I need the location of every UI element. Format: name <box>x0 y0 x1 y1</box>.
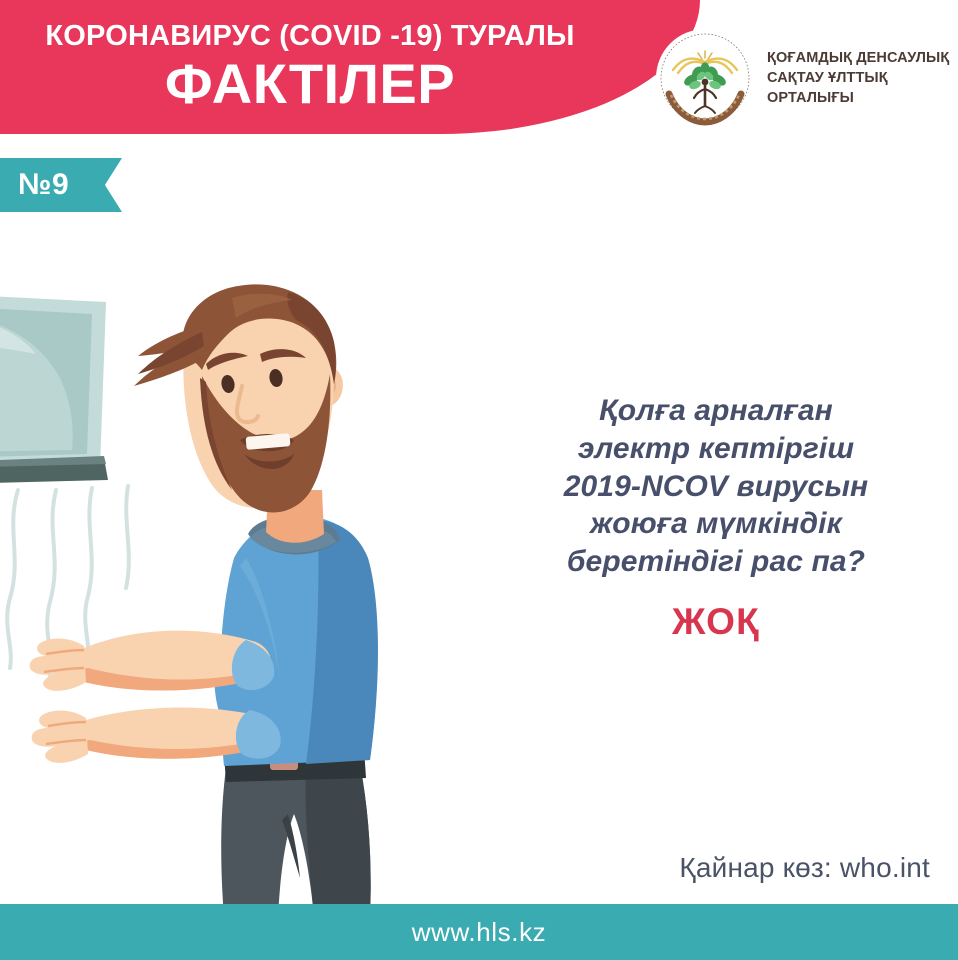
header-title: ФАКТІЛЕР <box>165 55 455 112</box>
fact-message-line: беретіндігі рас па? <box>490 543 942 581</box>
organization-name-line-2: САҚТАУ ҰЛТТЫҚ <box>767 68 949 88</box>
man-arms <box>30 631 281 763</box>
footer-bar: www.hls.kz <box>0 904 958 960</box>
hand-dryer-graphic <box>0 294 108 484</box>
fact-message-line: электр кептіргіш <box>490 430 942 468</box>
hand-dryer-illustration <box>0 258 508 918</box>
organization-name: ҚОҒАМДЫҚ ДЕНСАУЛЫҚ САҚТАУ ҰЛТТЫҚ ОРТАЛЫҒ… <box>767 48 949 108</box>
organization-name-line-3: ОРТАЛЫҒЫ <box>767 88 949 108</box>
source-attribution: Қайнар көз: who.int <box>679 852 930 884</box>
infographic-poster: КОРОНАВИРУС (COVID -19) ТУРАЛЫ ФАКТІЛЕР <box>0 0 958 960</box>
fact-number-ribbon: №9 <box>0 158 122 212</box>
man-head <box>134 284 343 542</box>
public-health-tree-emblem-icon <box>655 28 755 128</box>
fact-message-line: жоюға мүмкіндік <box>490 505 942 543</box>
footer-website-url: www.hls.kz <box>412 919 547 945</box>
fact-number-label: №9 <box>0 170 69 200</box>
organization-name-line-1: ҚОҒАМДЫҚ ДЕНСАУЛЫҚ <box>767 48 949 68</box>
header-subtitle: КОРОНАВИРУС (COVID -19) ТУРАЛЫ <box>45 22 574 51</box>
fact-message-line: Қолға арналған <box>490 392 942 430</box>
fact-message-line: 2019-NCOV вирусын <box>490 468 942 506</box>
fact-answer: ЖОҚ <box>490 603 942 640</box>
header-title-group: КОРОНАВИРУС (COVID -19) ТУРАЛЫ ФАКТІЛЕР <box>0 0 660 134</box>
organization-logo: ҚОҒАМДЫҚ ДЕНСАУЛЫҚ САҚТАУ ҰЛТТЫҚ ОРТАЛЫҒ… <box>655 22 945 134</box>
fact-message: Қолға арналған электр кептіргіш 2019-NCO… <box>490 392 942 640</box>
